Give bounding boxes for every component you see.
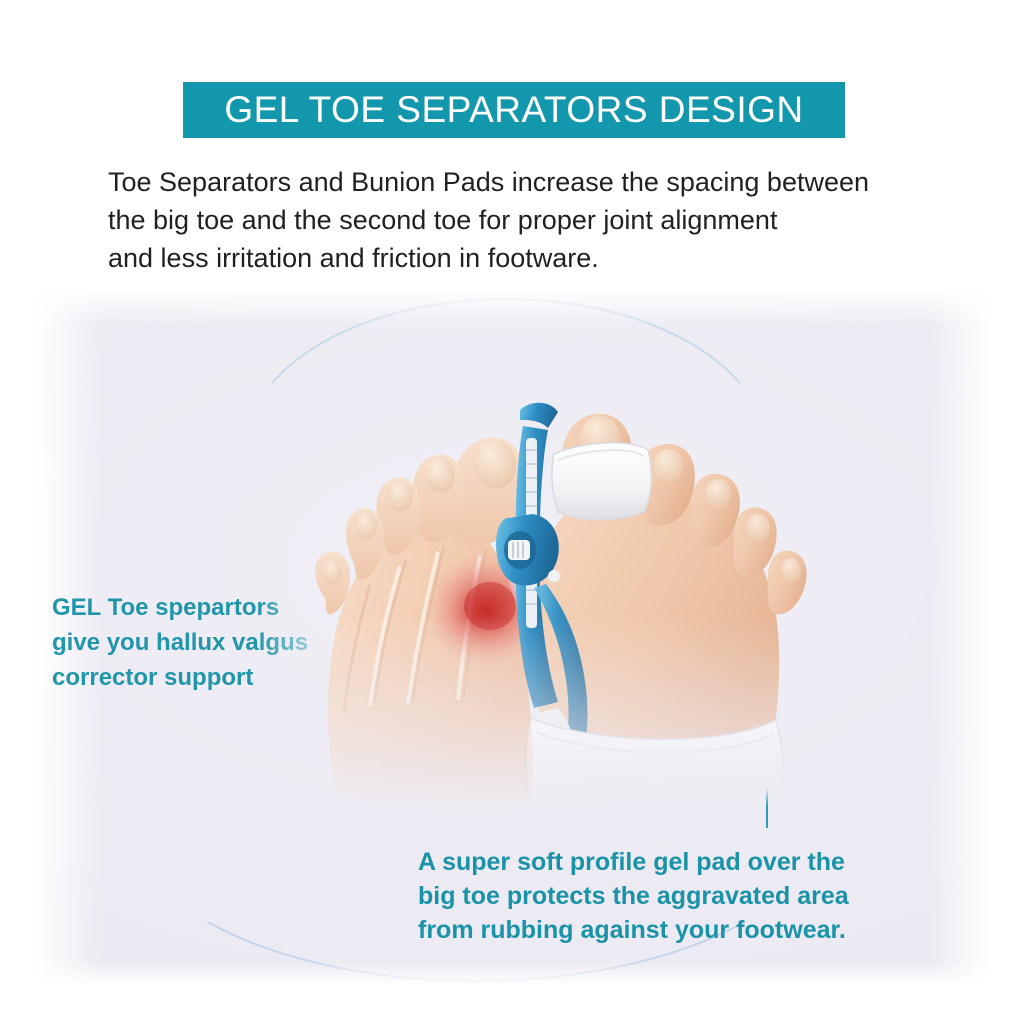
caption-left-line-1: GEL Toe spepartors	[52, 590, 382, 625]
left-foot-toenail-3	[387, 480, 413, 512]
caption-bottom-line-3: from rubbing against your footwear.	[418, 913, 948, 947]
caption-left: GEL Toe spepartors give you hallux valgu…	[52, 590, 382, 695]
bunion-core	[464, 582, 516, 630]
intro-paragraph: Toe Separators and Bunion Pads increase …	[108, 163, 978, 277]
left-foot-toenail-4	[355, 512, 377, 540]
splint-rivet-lower	[548, 570, 560, 582]
caption-left-line-2: give you hallux valgus	[52, 625, 382, 660]
left-foot-little-toenail	[322, 560, 342, 584]
right-foot-little-toenail	[781, 558, 801, 582]
caption-bottom-line-1: A super soft profile gel pad over the	[418, 845, 948, 879]
right-foot-group	[496, 403, 807, 855]
intro-line-2: the big toe and the second toe for prope…	[108, 201, 978, 239]
intro-line-1: Toe Separators and Bunion Pads increase …	[108, 163, 978, 201]
splint-dial-face	[508, 540, 530, 560]
right-foot-toenail-3	[705, 479, 731, 509]
caption-left-line-3: corrector support	[52, 660, 382, 695]
pointer-line	[766, 788, 768, 828]
right-foot-toenail-4	[746, 514, 770, 542]
caption-bottom: A super soft profile gel pad over the bi…	[418, 845, 948, 947]
right-foot-toenail-2	[653, 449, 683, 483]
title-banner: GEL TOE SEPARATORS DESIGN	[183, 82, 845, 138]
toe-strap	[552, 443, 652, 520]
page-title: GEL TOE SEPARATORS DESIGN	[224, 89, 803, 131]
splint-top-clip	[520, 403, 558, 428]
caption-bottom-line-2: big toe protects the aggravated area	[418, 879, 948, 913]
intro-line-3: and less irritation and friction in foot…	[108, 239, 978, 277]
